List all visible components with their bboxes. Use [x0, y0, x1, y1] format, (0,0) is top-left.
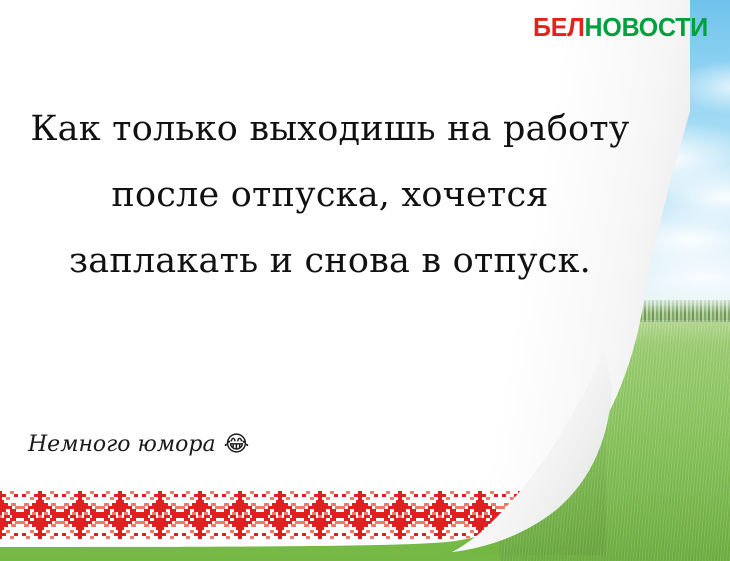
logo-text-bel: БЕЛ	[533, 12, 585, 42]
logo-text-novosti: НОВОСТИ	[585, 12, 709, 42]
joke-text: Как только выходишь на работу после отпу…	[0, 96, 660, 294]
meme-image: БЕЛНОВОСТИ Как только выходишь на работу…	[0, 0, 730, 561]
laughing-emoji-icon: 😂	[224, 432, 250, 457]
joke-line-3: заплакать и снова в отпуск.	[0, 228, 660, 294]
joke-line-1: Как только выходишь на работу	[0, 96, 660, 162]
caption: Немного юмора 😂	[28, 432, 249, 457]
joke-line-2: после отпуска, хочется	[0, 162, 660, 228]
site-logo[interactable]: БЕЛНОВОСТИ	[533, 14, 708, 40]
caption-label: Немного юмора	[28, 432, 216, 457]
